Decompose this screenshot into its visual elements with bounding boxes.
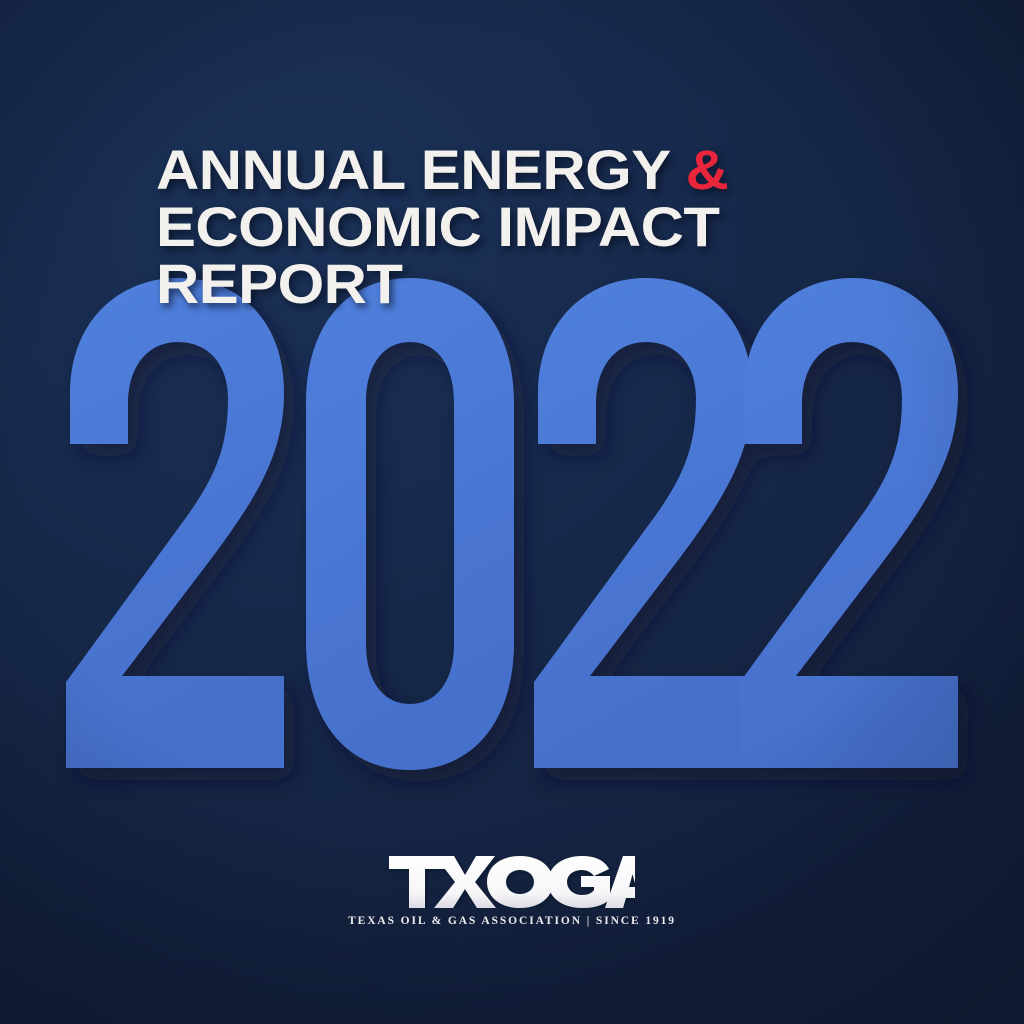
title-line-3: REPORT (156, 255, 969, 312)
ampersand-accent: & (686, 138, 729, 201)
title-line-3-text: REPORT (156, 252, 402, 315)
report-cover: ANNUAL ENERGY & ECONOMIC IMPACT REPORT (0, 0, 1024, 1024)
title-line-2: ECONOMIC IMPACT (156, 198, 969, 255)
txoga-logo: TEXAS OIL & GAS ASSOCIATION | SINCE 1919 (0, 856, 1024, 927)
logo-tagline: TEXAS OIL & GAS ASSOCIATION | SINCE 1919 (0, 915, 1024, 927)
title-line-2-text: ECONOMIC IMPACT (156, 195, 719, 258)
title-line-1-text: ANNUAL ENERGY (156, 138, 686, 201)
title-line-1: ANNUAL ENERGY & (156, 141, 969, 198)
year-2022-graphic (62, 276, 962, 772)
txoga-wordmark-icon (389, 856, 635, 908)
page-title: ANNUAL ENERGY & ECONOMIC IMPACT REPORT (156, 141, 916, 312)
